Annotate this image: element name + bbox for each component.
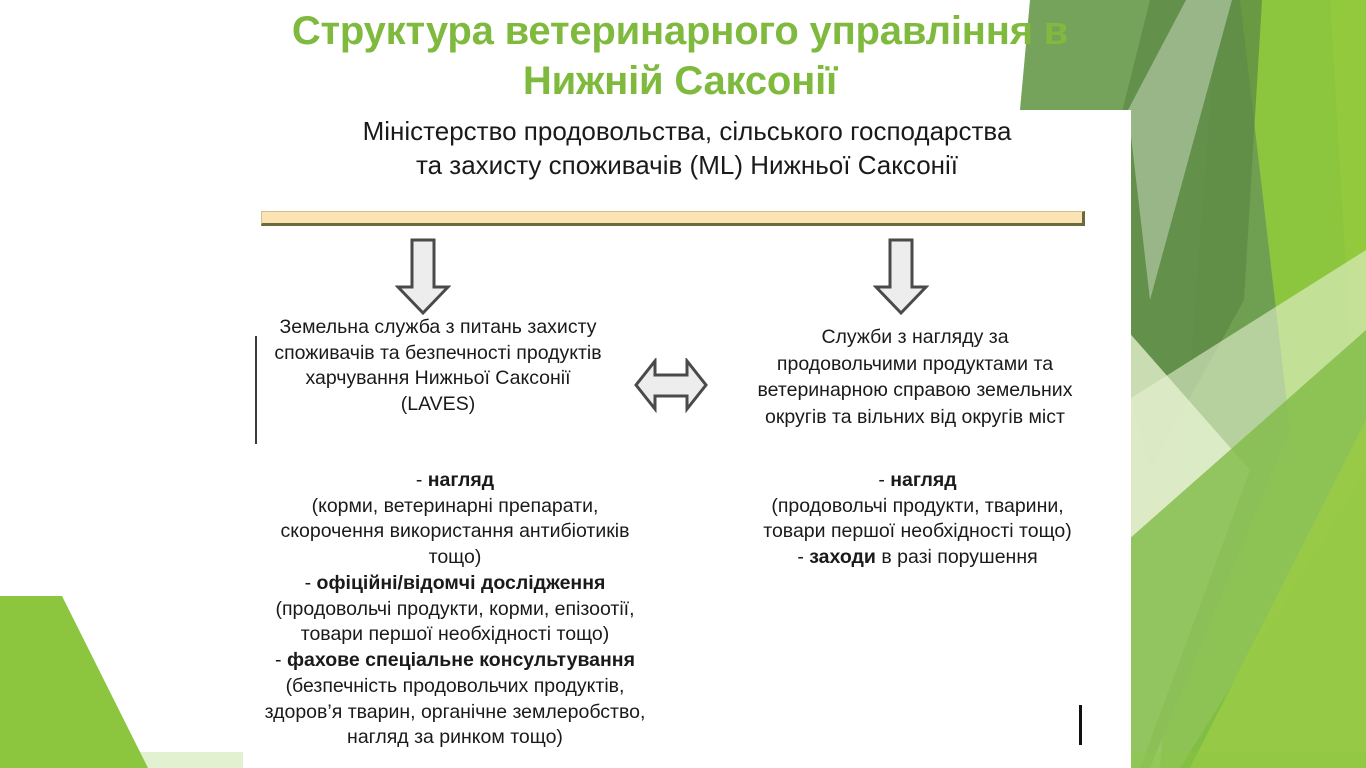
branch-text-line: товари першої необхідності тощо) <box>255 622 655 648</box>
left-branch-rule <box>255 336 257 444</box>
left-branch-body: - нагляд(корми, ветеринарні препарати,ск… <box>255 468 655 751</box>
arrow-down-icon <box>395 238 451 316</box>
decor-green-sheet-bottom2 <box>1190 420 1366 768</box>
ministry-node-label: Міністерство продовольства, сільського г… <box>263 115 1111 183</box>
page-title: Структура ветеринарного управління в Ниж… <box>180 6 1180 107</box>
branch-text-line: скорочення використання антибіотиків <box>255 519 655 545</box>
branch-text-line: - заходи в разі порушення <box>730 545 1105 571</box>
branch-text-line: (безпечність продовольчих продуктів, <box>255 674 655 700</box>
left-branch-heading: Земельна служба з питань захисту спожива… <box>263 315 613 418</box>
branch-text-emphasis: фахове спеціальне консультування <box>287 649 635 671</box>
decor-left-sliver <box>0 596 148 768</box>
branch-text-line: здоров’я тварин, органічне землеробство, <box>255 700 655 726</box>
diagram-card: Міністерство продовольства, сільського г… <box>243 110 1131 768</box>
branch-text-line: товари першої необхідності тощо) <box>730 519 1105 545</box>
ministry-divider-bar <box>261 211 1085 226</box>
double-arrow-horizontal-icon <box>633 358 709 413</box>
right-branch-heading: Служби з нагляду за продовольчими продук… <box>725 324 1105 430</box>
branch-text-emphasis: нагляд <box>890 469 956 491</box>
slide-canvas: Структура ветеринарного управління в Ниж… <box>0 0 1366 768</box>
branch-text-line: (продовольчі продукти, тварини, <box>730 494 1105 520</box>
decor-green-sheet-bottom <box>1090 330 1366 768</box>
branch-text-emphasis: нагляд <box>428 469 494 491</box>
branch-text-line: нагляд за ринком тощо) <box>255 725 655 751</box>
arrow-down-icon <box>873 238 929 316</box>
branch-text-line: - нагляд <box>255 468 655 494</box>
branch-text-line: - офіційні/відомчі дослідження <box>255 571 655 597</box>
bottom-right-tick <box>1079 705 1082 745</box>
branch-text-emphasis: заходи <box>809 546 876 568</box>
branch-text-line: (продовольчі продукти, корми, епізоотії, <box>255 597 655 623</box>
decor-right-bright-near <box>1160 0 1366 768</box>
branch-text-emphasis: офіційні/відомчі дослідження <box>317 572 606 594</box>
decor-right-bright-far <box>1200 0 1366 768</box>
branch-text-line: - фахове спеціальне консультування <box>255 648 655 674</box>
branch-text-line: - нагляд <box>730 468 1105 494</box>
branch-text-line: (корми, ветеринарні препарати, <box>255 494 655 520</box>
right-branch-body: - нагляд(продовольчі продукти, тварини,т… <box>730 468 1105 571</box>
branch-text-line: тощо) <box>255 545 655 571</box>
